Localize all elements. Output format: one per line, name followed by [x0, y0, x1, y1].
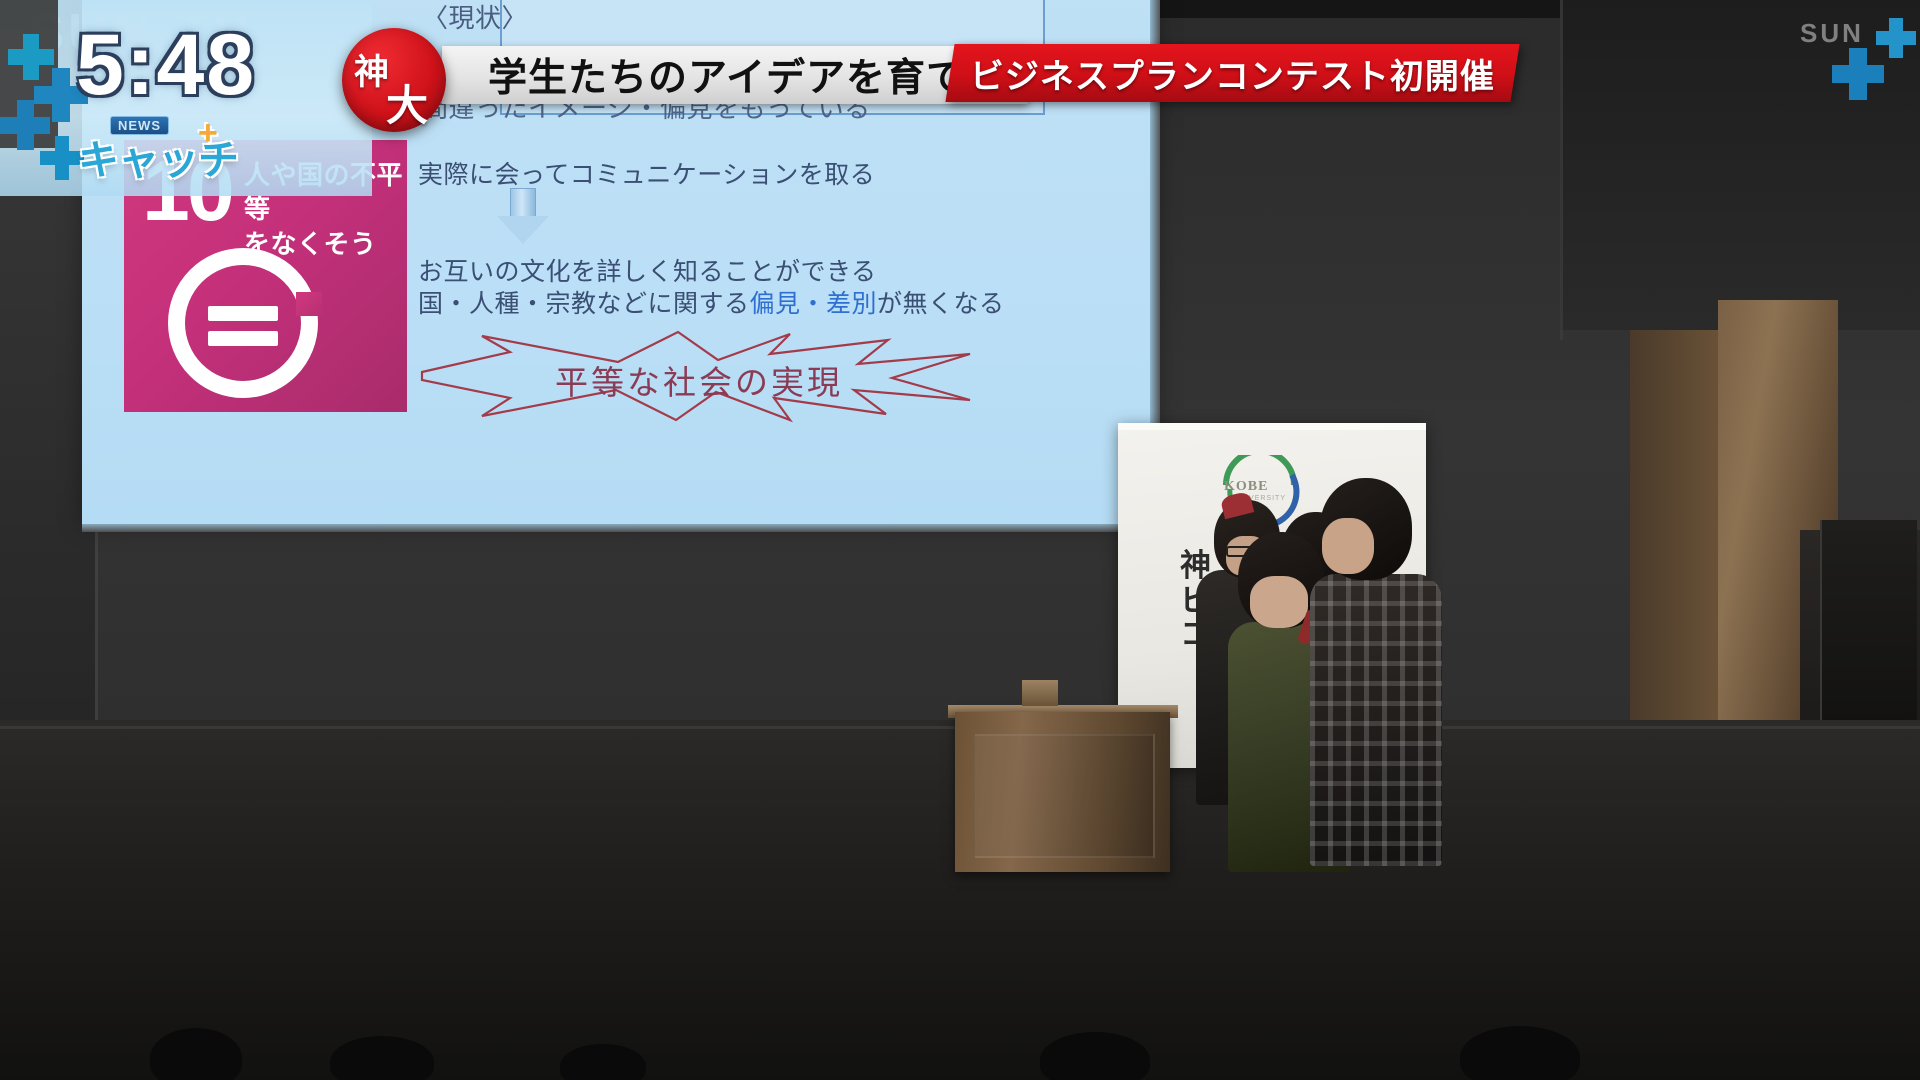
person-face: [1250, 576, 1308, 628]
headline-main-text: 学生たちのアイデアを育てる: [488, 47, 1006, 103]
badge-char-2: 大: [386, 72, 428, 133]
wood-wall-panel-2: [1630, 330, 1725, 730]
person-face: [1322, 518, 1374, 574]
audience-head: [150, 1028, 242, 1080]
slide-line-3-pre: 国・人種・宗教などに関する: [418, 290, 750, 318]
slide-line-2: お互いの文化を詳しく知ることができる: [418, 252, 877, 288]
kobe-logo-text: KOBE: [1224, 479, 1268, 495]
station-watermark-right: SUN: [1800, 18, 1864, 49]
podium-front-panel: [973, 734, 1155, 858]
slide-section-heading: 〈現状〉: [422, 0, 528, 35]
podium-object: [1022, 680, 1058, 706]
starburst-callout: 平等な社会の実現: [418, 328, 974, 424]
slide-line-3-highlight: 偏見・差別: [750, 290, 878, 318]
badge-char-1: 神: [354, 44, 389, 95]
headline-sub-bar: ビジネスプランコンテスト初開催: [945, 44, 1519, 102]
starburst-text: 平等な社会の実現: [544, 356, 854, 404]
audience-head: [330, 1036, 434, 1080]
audience-head: [1040, 1032, 1150, 1080]
program-logo: キャッチ NEWS +: [78, 110, 218, 188]
backdrop-top-edge: [1118, 423, 1426, 430]
arrow-head: [497, 216, 549, 244]
podium-lectern: [955, 712, 1170, 872]
program-news-tag: NEWS: [110, 116, 169, 135]
plus-decoration-icon: [1876, 18, 1916, 58]
screen-bottom-edge: [82, 524, 1160, 532]
equals-circle-icon: [168, 248, 318, 398]
headline-main-bar: 学生たちのアイデアを育てる: [442, 46, 1028, 104]
headline-sub-text: ビジネスプランコンテスト初開催: [970, 49, 1495, 98]
equals-circle-ring: [168, 248, 318, 398]
slide-line-3-post: が無くなる: [877, 290, 1005, 318]
slide-line-3: 国・人種・宗教などに関する偏見・差別が無くなる: [418, 284, 1005, 320]
person-torso: [1310, 574, 1442, 866]
equals-bar-top: [208, 306, 278, 321]
slide-line-1: 実際に会ってコミュニケーションを取る: [418, 155, 875, 191]
down-arrow-icon: [497, 188, 549, 244]
equals-bar-bottom: [208, 331, 278, 346]
audience-head: [560, 1044, 646, 1080]
university-badge: 神 大: [342, 28, 446, 132]
broadcast-frame: 10 人や国の不平等 をなくそう 〈現状〉 間違ったイメージ・偏見をもっている …: [0, 0, 1920, 1080]
on-air-clock: 5:48: [76, 22, 256, 108]
program-plus-mark: +: [198, 114, 218, 153]
wall-seam-right: [1560, 0, 1563, 340]
arrow-shaft: [510, 188, 536, 218]
audience-head: [1460, 1026, 1580, 1080]
equals-circle-gap: [296, 292, 322, 316]
